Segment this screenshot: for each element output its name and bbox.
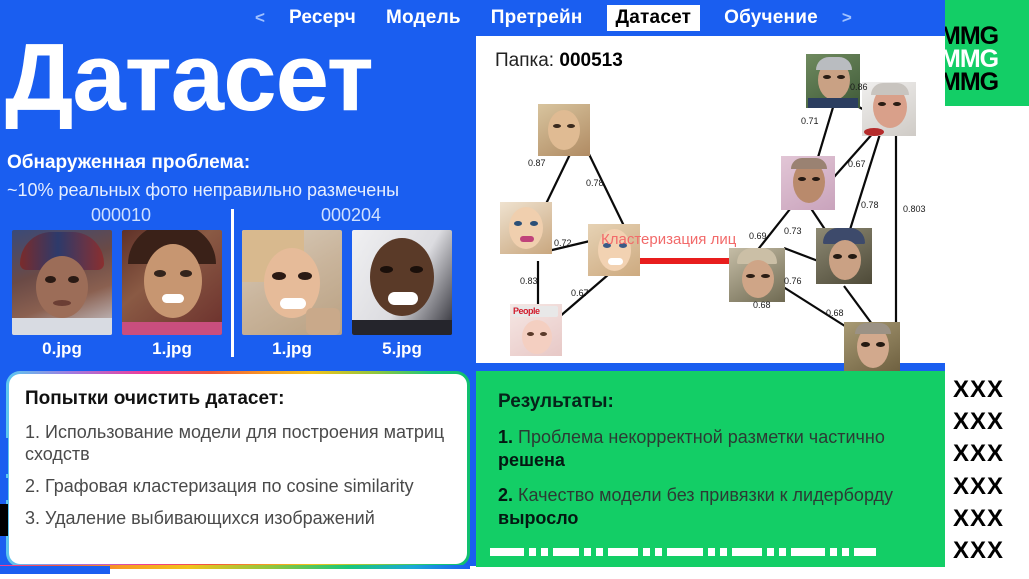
attempts-item: 1. Использование модели для построения м… [25, 421, 451, 465]
bottom-white-strip [0, 574, 1029, 579]
logo-line: MMG [945, 70, 998, 95]
results-item-emphasis: решена [498, 450, 565, 470]
results-item-text: Качество модели без привязки к лидерборд… [513, 485, 893, 505]
results-item: 1. Проблема некорректной разметки частич… [498, 426, 923, 472]
morse-decoration [490, 548, 930, 556]
nav-next-arrow-icon[interactable]: > [842, 8, 852, 28]
edge-weight: 0.67 [848, 159, 866, 169]
graph-node-face[interactable] [844, 322, 900, 378]
face-cluster-graph-panel: Папка: 000513 [476, 36, 945, 363]
folder-id-label: 000204 [236, 205, 466, 226]
attempts-item: 3. Удаление выбивающихся изображений [25, 507, 451, 529]
edge-weight: 0.73 [784, 226, 802, 236]
results-heading: Результаты: [498, 391, 923, 413]
edge-weight: 0.67 [571, 288, 589, 298]
gallery-item[interactable]: 1.jpg [122, 230, 222, 359]
graph-node-face[interactable] [862, 82, 916, 136]
photo-filename: 0.jpg [12, 339, 112, 359]
slide-root: < Ресерч Модель Претрейн Датасет Обучени… [0, 0, 1029, 579]
x-row: XXX [953, 409, 1029, 434]
edge-accent-blue [0, 478, 8, 500]
results-item: 2. Качество модели без привязки к лидерб… [498, 484, 923, 530]
graph-node-face-magazine[interactable]: People [510, 304, 562, 356]
edge-weight: 0.86 [850, 82, 868, 92]
photo-thumbnail-woman-a[interactable] [122, 230, 222, 335]
folder-thumbnails: 1.jpg 5.jpg [236, 230, 466, 359]
graph-node-face[interactable] [816, 228, 872, 284]
photo-thumbnail-cyclist[interactable] [12, 230, 112, 335]
graph-node-face[interactable] [806, 54, 860, 108]
folder-gallery: 000010 0.jpg [0, 205, 476, 363]
folder-thumbnails: 0.jpg 1.jpg [6, 230, 236, 359]
edge-weight: 0.68 [826, 308, 844, 318]
graph-node-face[interactable] [538, 104, 590, 156]
x-row: XXX [953, 474, 1029, 499]
results-item-number: 1. [498, 427, 513, 447]
x-row: XXX [953, 441, 1029, 466]
photo-filename: 5.jpg [352, 339, 452, 359]
photo-filename: 1.jpg [122, 339, 222, 359]
results-item-emphasis: выросло [498, 508, 578, 528]
nav-item-training[interactable]: Обучение [718, 5, 824, 31]
mmg-logo: MMG MMG MMG [945, 0, 1029, 106]
edge-weight: 0.803 [903, 204, 926, 214]
gallery-item[interactable]: 1.jpg [242, 230, 342, 359]
attempts-heading: Попытки очистить датасет: [25, 388, 451, 410]
x-row: XXX [953, 506, 1029, 531]
problem-heading: Обнаруженная проблема: [7, 152, 250, 174]
x-pattern-column: XXX XXX XXX XXX XXX XXX [945, 371, 1029, 567]
edge-accent-blue [0, 438, 8, 474]
results-panel: Результаты: 1. Проблема некорректной раз… [476, 371, 945, 567]
edge-weight: 0.69 [749, 231, 767, 241]
attempts-item: 2. Графовая кластеризация по cosine simi… [25, 475, 451, 497]
edge-weight: 0.78 [586, 178, 604, 188]
edge-weight: 0.78 [861, 200, 879, 210]
nav-item-pretrain[interactable]: Претрейн [485, 5, 589, 31]
attempts-card-border: Попытки очистить датасет: 1. Использован… [6, 371, 470, 567]
graph-node-face[interactable] [500, 202, 552, 254]
gallery-divider [231, 209, 234, 357]
photo-filename: 1.jpg [242, 339, 342, 359]
graph-node-face[interactable] [781, 156, 835, 210]
x-row: XXX [953, 377, 1029, 402]
edge-weight: 0.83 [520, 276, 538, 286]
edge-weight: 0.71 [801, 116, 819, 126]
problem-description: ~10% реальных фото неправильно размечены [7, 180, 399, 201]
edge-accent-black [0, 504, 8, 536]
nav-item-dataset[interactable]: Датасет [607, 5, 701, 31]
x-row: XXX [953, 538, 1029, 563]
edge-weight: 0.87 [528, 158, 546, 168]
folder-id-label: 000010 [6, 205, 236, 226]
edge-weight: 0.72 [554, 238, 572, 248]
cluster-annotation-label: Кластеризация лиц [601, 231, 736, 248]
attempts-card: Попытки очистить датасет: 1. Использован… [9, 374, 467, 564]
graph-node-face[interactable] [729, 248, 785, 302]
folder-group-000204: 000204 1.jpg [236, 205, 466, 359]
gallery-item[interactable]: 0.jpg [12, 230, 112, 359]
edge-weight: 0.68 [753, 300, 771, 310]
gallery-item[interactable]: 5.jpg [352, 230, 452, 359]
page-title: Датасет [5, 20, 475, 140]
results-item-text: Проблема некорректной разметки частично [513, 427, 885, 447]
folder-group-000010: 000010 0.jpg [6, 205, 236, 359]
edge-weight: 0.76 [784, 276, 802, 286]
results-item-number: 2. [498, 485, 513, 505]
photo-thumbnail-woman-b[interactable] [242, 230, 342, 335]
photo-thumbnail-man[interactable] [352, 230, 452, 335]
